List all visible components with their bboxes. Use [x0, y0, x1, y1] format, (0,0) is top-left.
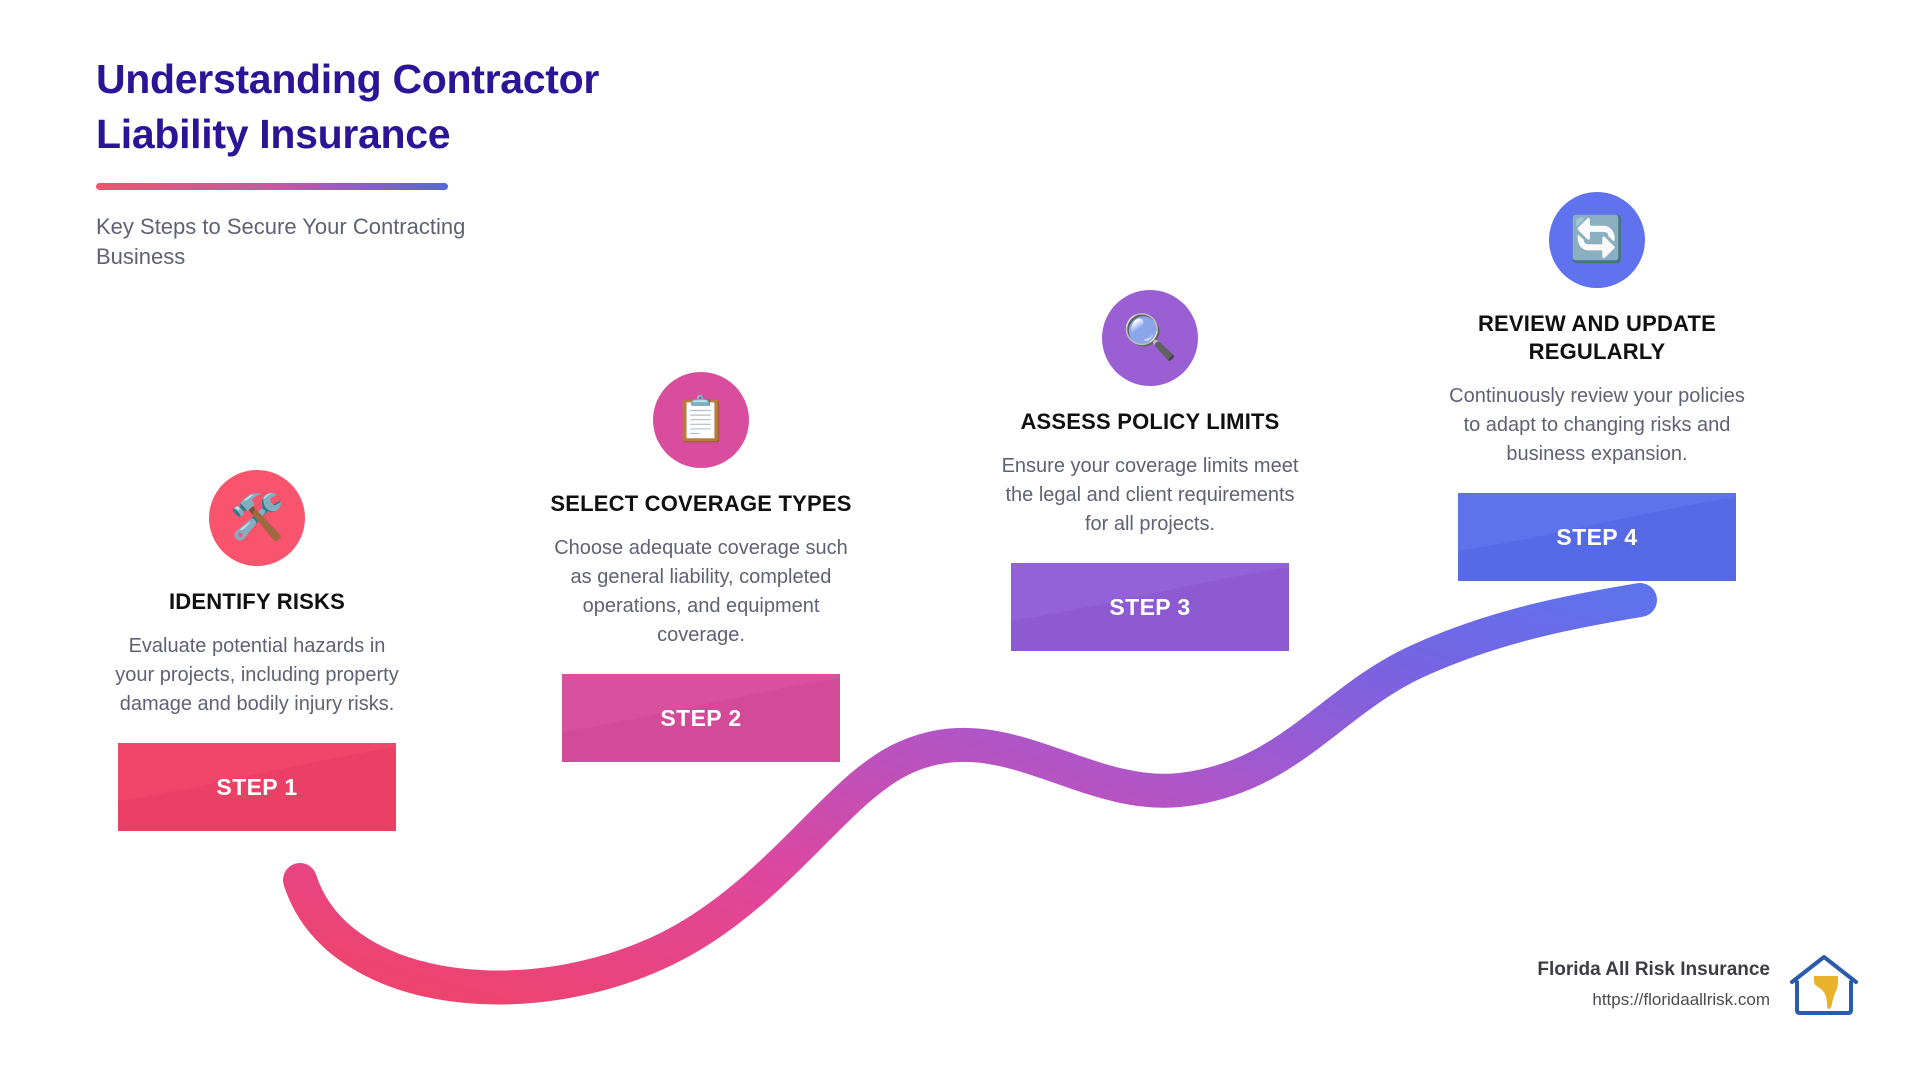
step-1-description: Evaluate potential hazards in your proje… — [92, 632, 422, 719]
step-3-description: Ensure your coverage limits meet the leg… — [985, 452, 1315, 539]
step-1-banner[interactable]: STEP 1 — [118, 743, 396, 831]
brand-footer: Florida All Risk Insurance https://flori… — [1537, 952, 1860, 1018]
step-card-3: 🔍 ASSESS POLICY LIMITS Ensure your cover… — [985, 290, 1315, 651]
step-3-icon-wrap: 🔍 — [985, 290, 1315, 386]
page-subtitle: Key Steps to Secure Your Contracting Bus… — [96, 212, 546, 273]
step-4-banner[interactable]: STEP 4 — [1458, 493, 1736, 581]
step-card-2: 📋 SELECT COVERAGE TYPES Choose adequate … — [536, 372, 866, 762]
step-2-description: Choose adequate coverage such as general… — [536, 534, 866, 650]
hammer-and-wrench-icon: 🛠️ — [209, 470, 305, 566]
title-divider — [96, 183, 448, 190]
step-1-banner-label: STEP 1 — [216, 774, 297, 801]
house-with-florida-state-icon — [1788, 952, 1860, 1018]
step-2-icon-wrap: 📋 — [536, 372, 866, 468]
brand-name: Florida All Risk Insurance — [1537, 957, 1770, 984]
clipboard-icon: 📋 — [653, 372, 749, 468]
step-3-banner-label: STEP 3 — [1109, 594, 1190, 621]
step-3-banner[interactable]: STEP 3 — [1011, 563, 1289, 651]
refresh-sync-icon: 🔄 — [1549, 192, 1645, 288]
header: Understanding Contractor Liability Insur… — [96, 52, 716, 272]
step-4-heading: REVIEW AND UPDATE REGULARLY — [1432, 310, 1762, 366]
magnifying-glass-icon: 🔍 — [1102, 290, 1198, 386]
step-2-heading: SELECT COVERAGE TYPES — [536, 490, 866, 518]
step-1-icon-wrap: 🛠️ — [92, 470, 422, 566]
step-4-description: Continuously review your policies to ada… — [1432, 382, 1762, 469]
step-2-banner[interactable]: STEP 2 — [562, 674, 840, 762]
step-2-banner-label: STEP 2 — [660, 705, 741, 732]
page-title: Understanding Contractor Liability Insur… — [96, 52, 716, 163]
step-3-heading: ASSESS POLICY LIMITS — [985, 408, 1315, 436]
step-4-icon-wrap: 🔄 — [1432, 192, 1762, 288]
step-1-heading: IDENTIFY RISKS — [92, 588, 422, 616]
step-card-1: 🛠️ IDENTIFY RISKS Evaluate potential haz… — [92, 470, 422, 831]
brand-text: Florida All Risk Insurance https://flori… — [1537, 957, 1770, 1012]
brand-url[interactable]: https://floridaallrisk.com — [1537, 987, 1770, 1013]
step-card-4: 🔄 REVIEW AND UPDATE REGULARLY Continuous… — [1432, 192, 1762, 581]
step-4-banner-label: STEP 4 — [1556, 524, 1637, 551]
